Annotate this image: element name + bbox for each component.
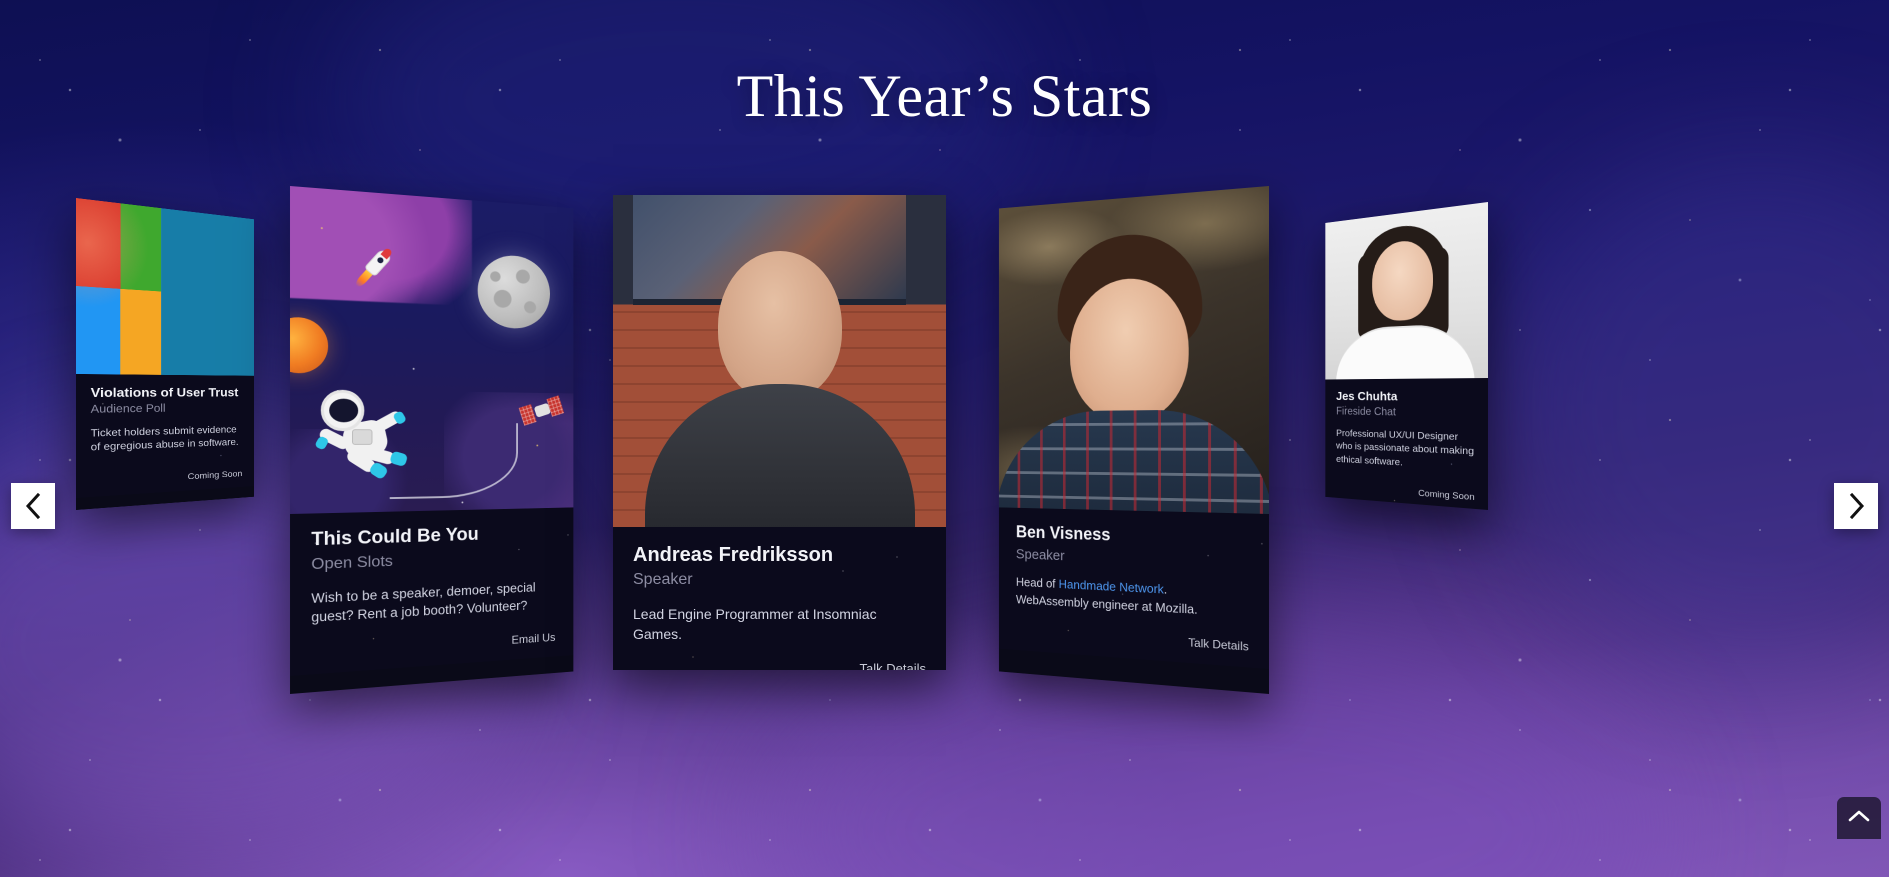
card-role: Audience Poll: [91, 401, 243, 417]
card-cta[interactable]: Email Us: [311, 631, 555, 661]
speaker-card[interactable]: Jes Chuhta Fireside Chat Professional UX…: [1325, 202, 1488, 510]
card-description: Professional UX/UI Designer who is passi…: [1336, 426, 1475, 474]
card-body: Andreas Fredriksson Speaker Lead Engine …: [613, 527, 946, 670]
chevron-left-icon: [25, 493, 42, 519]
card-body: This Could Be You Open Slots Wish to be …: [290, 507, 573, 676]
tech-tiles-artwork: [76, 198, 254, 376]
card-role: Fireside Chat: [1336, 405, 1475, 421]
portrait-artwork: [613, 195, 946, 527]
card-description: Ticket holders submit evidence of egregi…: [91, 423, 243, 456]
portrait-artwork: [999, 186, 1269, 514]
speaker-card[interactable]: Violations of User Trust Audience Poll T…: [76, 198, 254, 510]
card-title: Violations of User Trust: [91, 385, 243, 400]
page-stage: This Year’s Stars Violations of User Tru…: [0, 0, 1889, 877]
chevron-right-icon: [1848, 493, 1865, 519]
card-description: Head of Handmade Network. WebAssembly en…: [1016, 574, 1249, 622]
portrait-artwork: [1325, 202, 1488, 379]
speaker-card[interactable]: This Could Be You Open Slots Wish to be …: [290, 186, 573, 694]
card-cta[interactable]: Coming Soon: [1336, 483, 1475, 504]
carousel-next-button[interactable]: [1834, 483, 1878, 529]
card-body: Ben Visness Speaker Head of Handmade Net…: [999, 507, 1269, 669]
astronaut-icon: [315, 390, 413, 475]
speaker-card[interactable]: Ben Visness Speaker Head of Handmade Net…: [999, 186, 1269, 694]
handmade-network-link[interactable]: Handmade Network: [1059, 577, 1164, 597]
card-cta[interactable]: Talk Details: [633, 661, 926, 670]
space-illustration-artwork: [290, 186, 573, 514]
card-image: [76, 198, 254, 376]
desc-text-before: Head of: [1016, 575, 1059, 591]
speaker-card-active[interactable]: Andreas Fredriksson Speaker Lead Engine …: [613, 195, 946, 670]
card-role: Speaker: [633, 570, 926, 591]
card-description: Wish to be a speaker, demoer, special gu…: [311, 577, 555, 627]
chevron-up-icon: [1848, 809, 1870, 828]
card-body: Jes Chuhta Fireside Chat Professional UX…: [1325, 378, 1488, 510]
card-description: Lead Engine Programmer at Insomniac Game…: [633, 605, 926, 645]
card-image: [999, 186, 1269, 514]
card-cta[interactable]: Coming Soon: [91, 469, 243, 488]
carousel-prev-button[interactable]: [11, 483, 55, 529]
card-cta[interactable]: Talk Details: [1016, 624, 1249, 653]
card-image: [1325, 202, 1488, 379]
card-body: Violations of User Trust Audience Poll T…: [76, 374, 254, 498]
card-image: [613, 195, 946, 527]
scroll-to-top-button[interactable]: [1837, 797, 1881, 839]
card-title: Andreas Fredriksson: [633, 543, 926, 567]
card-title: Jes Chuhta: [1336, 389, 1475, 404]
card-image: [290, 186, 573, 514]
speaker-carousel: Violations of User Trust Audience Poll T…: [0, 0, 1889, 877]
